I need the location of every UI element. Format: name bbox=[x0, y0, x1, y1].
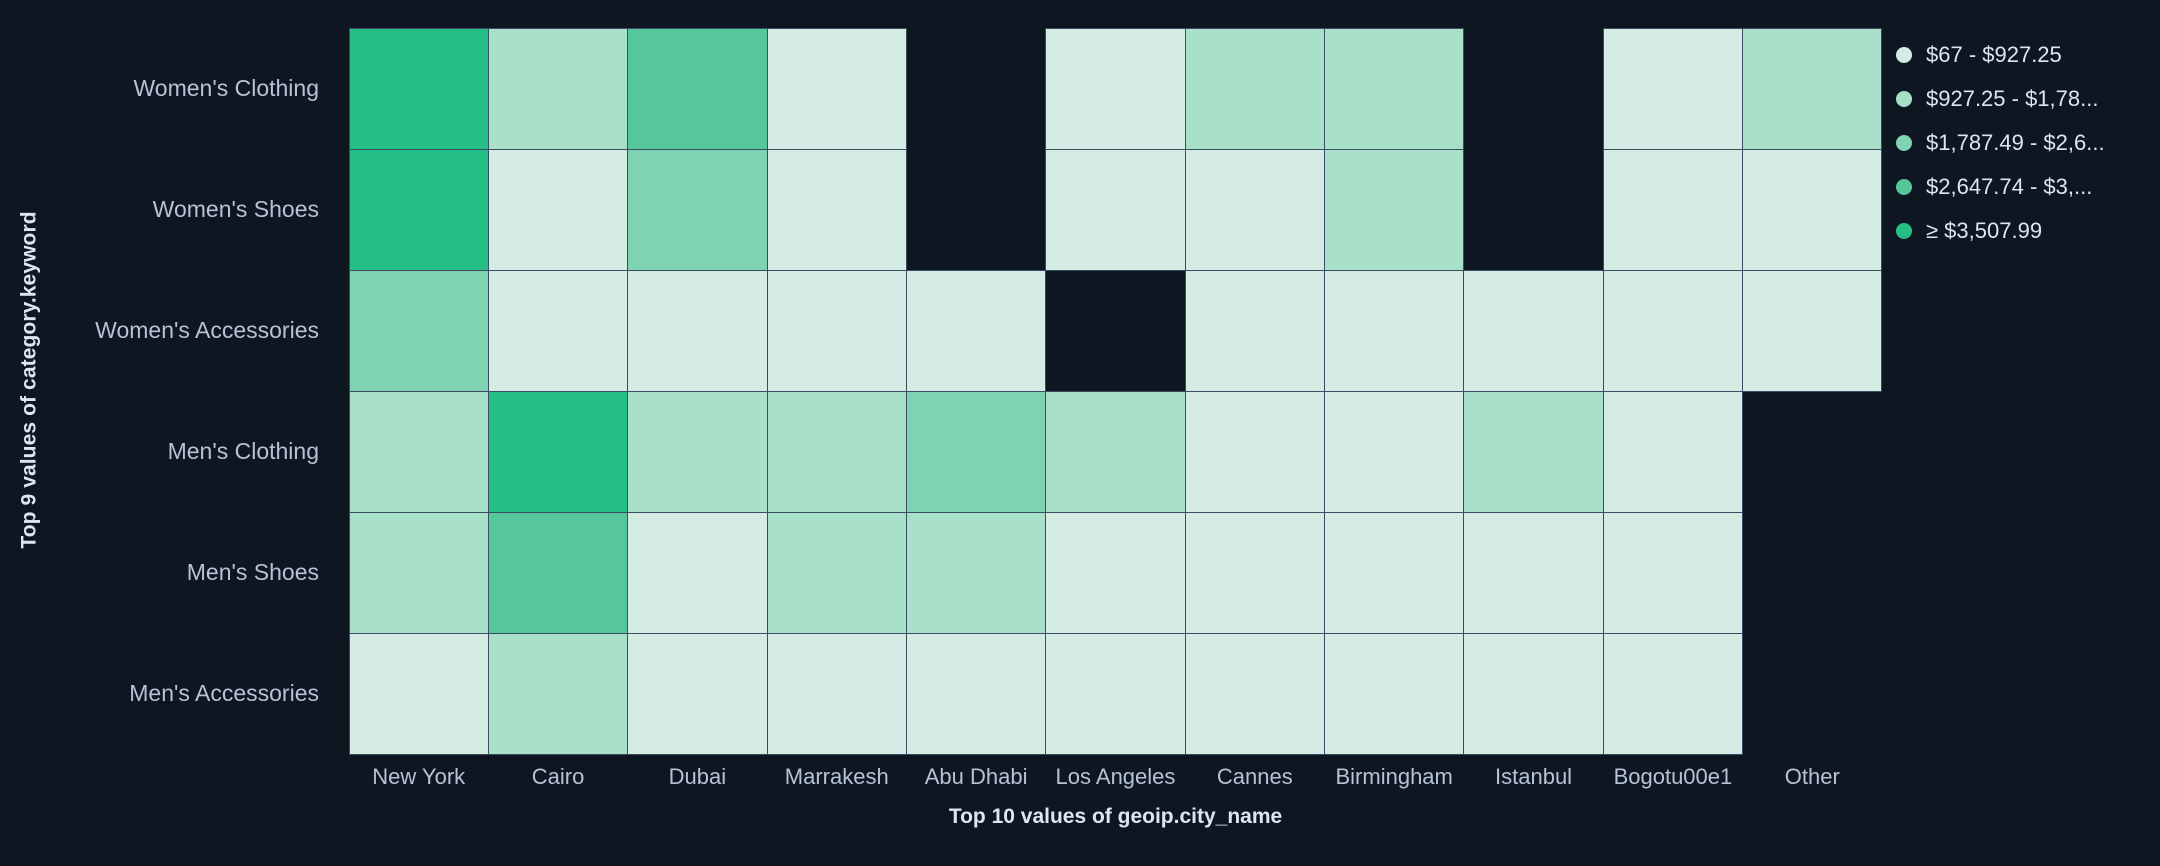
heatmap-cell[interactable] bbox=[488, 633, 628, 755]
y-axis-tick-labels: Women's ClothingWomen's ShoesWomen's Acc… bbox=[50, 28, 335, 754]
legend-label: ≥ $3,507.99 bbox=[1926, 218, 2042, 244]
heatmap-cell[interactable] bbox=[1463, 512, 1603, 634]
heatmap-cell[interactable] bbox=[1045, 512, 1185, 634]
heatmap-cell[interactable] bbox=[627, 270, 767, 392]
x-axis-tick-label: Other bbox=[1743, 758, 1882, 796]
heatmap-cell[interactable] bbox=[627, 633, 767, 755]
heatmap-cell[interactable] bbox=[1742, 270, 1882, 392]
heatmap-cell[interactable] bbox=[767, 270, 907, 392]
heatmap-cell[interactable] bbox=[349, 633, 489, 755]
heatmap-row bbox=[349, 270, 1882, 391]
heatmap-cell[interactable] bbox=[767, 633, 907, 755]
heatmap-row bbox=[349, 28, 1882, 149]
heatmap-row bbox=[349, 512, 1882, 633]
legend: $67 - $927.25$927.25 - $1,78...$1,787.49… bbox=[1896, 33, 2146, 253]
y-axis-tick-label: Men's Accessories bbox=[50, 633, 335, 754]
y-axis-tick-label: Men's Shoes bbox=[50, 512, 335, 633]
x-axis-tick-label: Dubai bbox=[628, 758, 767, 796]
heatmap-cell[interactable] bbox=[627, 512, 767, 634]
heatmap-cell[interactable] bbox=[1185, 149, 1325, 271]
heatmap-cell[interactable] bbox=[1045, 391, 1185, 513]
heatmap-cell bbox=[906, 28, 1046, 150]
heatmap-cell[interactable] bbox=[1603, 512, 1743, 634]
heatmap-cell[interactable] bbox=[1603, 633, 1743, 755]
heatmap-cell bbox=[1742, 633, 1882, 755]
legend-swatch-icon bbox=[1896, 91, 1912, 107]
heatmap-cell[interactable] bbox=[1463, 391, 1603, 513]
heatmap-cell bbox=[1463, 28, 1603, 150]
heatmap-cell[interactable] bbox=[1324, 391, 1464, 513]
heatmap-cell bbox=[1742, 512, 1882, 634]
heatmap-cell bbox=[1742, 391, 1882, 513]
heatmap-cell[interactable] bbox=[1185, 391, 1325, 513]
legend-item[interactable]: $1,787.49 - $2,6... bbox=[1896, 121, 2146, 165]
heatmap-grid[interactable] bbox=[349, 28, 1882, 754]
legend-label: $67 - $927.25 bbox=[1926, 42, 2062, 68]
x-axis-title: Top 10 values of geoip.city_name bbox=[349, 805, 1882, 829]
heatmap-cell[interactable] bbox=[488, 28, 628, 150]
legend-swatch-icon bbox=[1896, 47, 1912, 63]
heatmap-cell[interactable] bbox=[488, 391, 628, 513]
heatmap-cell[interactable] bbox=[1463, 270, 1603, 392]
heatmap-row bbox=[349, 391, 1882, 512]
x-axis-tick-labels: New YorkCairoDubaiMarrakeshAbu DhabiLos … bbox=[349, 758, 1882, 796]
heatmap-cell[interactable] bbox=[627, 28, 767, 150]
heatmap-cell[interactable] bbox=[1603, 270, 1743, 392]
legend-swatch-icon bbox=[1896, 179, 1912, 195]
heatmap-cell[interactable] bbox=[1324, 512, 1464, 634]
heatmap-cell[interactable] bbox=[488, 512, 628, 634]
legend-item[interactable]: ≥ $3,507.99 bbox=[1896, 209, 2146, 253]
x-axis-tick-label: Istanbul bbox=[1464, 758, 1603, 796]
legend-item[interactable]: $67 - $927.25 bbox=[1896, 33, 2146, 77]
y-axis-tick-label: Women's Accessories bbox=[50, 270, 335, 391]
heatmap-cell[interactable] bbox=[1324, 149, 1464, 271]
heatmap-cell[interactable] bbox=[1185, 28, 1325, 150]
heatmap-cell[interactable] bbox=[349, 28, 489, 150]
legend-swatch-icon bbox=[1896, 135, 1912, 151]
heatmap-cell[interactable] bbox=[906, 270, 1046, 392]
heatmap-cell[interactable] bbox=[1185, 633, 1325, 755]
heatmap-cell[interactable] bbox=[906, 512, 1046, 634]
y-axis-title-text: Top 9 values of category.keyword bbox=[18, 211, 42, 548]
legend-item[interactable]: $2,647.74 - $3,... bbox=[1896, 165, 2146, 209]
heatmap-row bbox=[349, 633, 1882, 754]
y-axis-tick-label: Women's Clothing bbox=[50, 28, 335, 149]
heatmap-cell[interactable] bbox=[349, 270, 489, 392]
heatmap-cell[interactable] bbox=[1045, 633, 1185, 755]
heatmap-cell[interactable] bbox=[1742, 28, 1882, 150]
heatmap-cell[interactable] bbox=[1045, 28, 1185, 150]
heatmap-cell[interactable] bbox=[1185, 512, 1325, 634]
legend-label: $1,787.49 - $2,6... bbox=[1926, 130, 2105, 156]
heatmap-cell[interactable] bbox=[627, 149, 767, 271]
heatmap-cell[interactable] bbox=[1742, 149, 1882, 271]
heatmap-cell[interactable] bbox=[1185, 270, 1325, 392]
heatmap-cell bbox=[1045, 270, 1185, 392]
heatmap-cell[interactable] bbox=[767, 28, 907, 150]
heatmap-cell[interactable] bbox=[488, 270, 628, 392]
x-axis-tick-label: New York bbox=[349, 758, 488, 796]
heatmap-cell[interactable] bbox=[1603, 391, 1743, 513]
heatmap-cell[interactable] bbox=[1463, 633, 1603, 755]
x-axis-tick-label: Bogotu00e1 bbox=[1603, 758, 1742, 796]
heatmap-cell[interactable] bbox=[1324, 633, 1464, 755]
heatmap-cell[interactable] bbox=[1045, 149, 1185, 271]
heatmap-cell[interactable] bbox=[1324, 28, 1464, 150]
legend-label: $2,647.74 - $3,... bbox=[1926, 174, 2092, 200]
x-axis-tick-label: Cannes bbox=[1185, 758, 1324, 796]
heatmap-cell[interactable] bbox=[1603, 149, 1743, 271]
heatmap-row bbox=[349, 149, 1882, 270]
legend-label: $927.25 - $1,78... bbox=[1926, 86, 2098, 112]
legend-swatch-icon bbox=[1896, 223, 1912, 239]
x-axis-tick-label: Cairo bbox=[488, 758, 627, 796]
legend-item[interactable]: $927.25 - $1,78... bbox=[1896, 77, 2146, 121]
x-axis-tick-label: Abu Dhabi bbox=[906, 758, 1045, 796]
x-axis-tick-label: Los Angeles bbox=[1046, 758, 1185, 796]
heatmap-cell[interactable] bbox=[488, 149, 628, 271]
y-axis-title: Top 9 values of category.keyword bbox=[10, 0, 50, 760]
heatmap-cell[interactable] bbox=[1324, 270, 1464, 392]
heatmap-cell[interactable] bbox=[1603, 28, 1743, 150]
heatmap-cell[interactable] bbox=[906, 391, 1046, 513]
heatmap-cell[interactable] bbox=[349, 391, 489, 513]
y-axis-tick-label: Men's Clothing bbox=[50, 391, 335, 512]
heatmap-cell[interactable] bbox=[349, 149, 489, 271]
heatmap-cell[interactable] bbox=[767, 391, 907, 513]
heatmap-cell[interactable] bbox=[767, 512, 907, 634]
x-axis-tick-label: Marrakesh bbox=[767, 758, 906, 796]
x-axis-tick-label: Birmingham bbox=[1325, 758, 1464, 796]
heatmap-cell[interactable] bbox=[906, 633, 1046, 755]
heatmap-cell bbox=[1463, 149, 1603, 271]
y-axis-tick-label: Women's Shoes bbox=[50, 149, 335, 270]
heatmap-visualization: Top 9 values of category.keyword Women's… bbox=[0, 0, 2160, 866]
heatmap-cell bbox=[906, 149, 1046, 271]
heatmap-cell[interactable] bbox=[349, 512, 489, 634]
heatmap-cell[interactable] bbox=[767, 149, 907, 271]
heatmap-cell[interactable] bbox=[627, 391, 767, 513]
